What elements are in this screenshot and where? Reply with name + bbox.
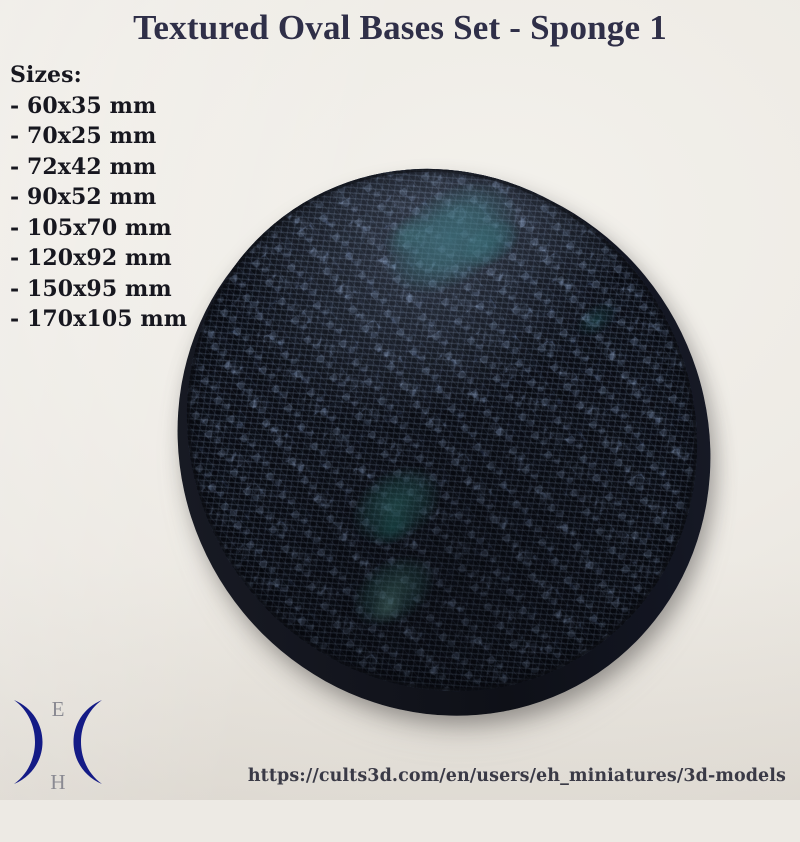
- size-item: - 60x35 mm: [10, 91, 187, 122]
- sizes-heading: Sizes:: [10, 60, 187, 91]
- crescent-right-icon: [74, 700, 103, 784]
- size-item: - 120x92 mm: [10, 243, 187, 274]
- base-inner-lip: [86, 70, 798, 791]
- store-url[interactable]: https://cults3d.com/en/users/eh_miniatur…: [248, 766, 786, 786]
- page-title: Textured Oval Bases Set - Sponge 1: [0, 6, 800, 50]
- size-item: - 105x70 mm: [10, 213, 187, 244]
- size-item: - 70x25 mm: [10, 121, 187, 152]
- eh-miniatures-logo: E H: [6, 690, 110, 794]
- product-photo-oval-base: [182, 160, 712, 735]
- logo-letter-h: H: [50, 770, 65, 794]
- sizes-list: Sizes: - 60x35 mm - 70x25 mm - 72x42 mm …: [10, 60, 187, 335]
- size-item: - 72x42 mm: [10, 152, 187, 183]
- crescent-left-icon: [14, 700, 43, 784]
- base-textured-face: [86, 70, 798, 791]
- size-item: - 90x52 mm: [10, 182, 187, 213]
- logo-letter-e: E: [52, 697, 65, 721]
